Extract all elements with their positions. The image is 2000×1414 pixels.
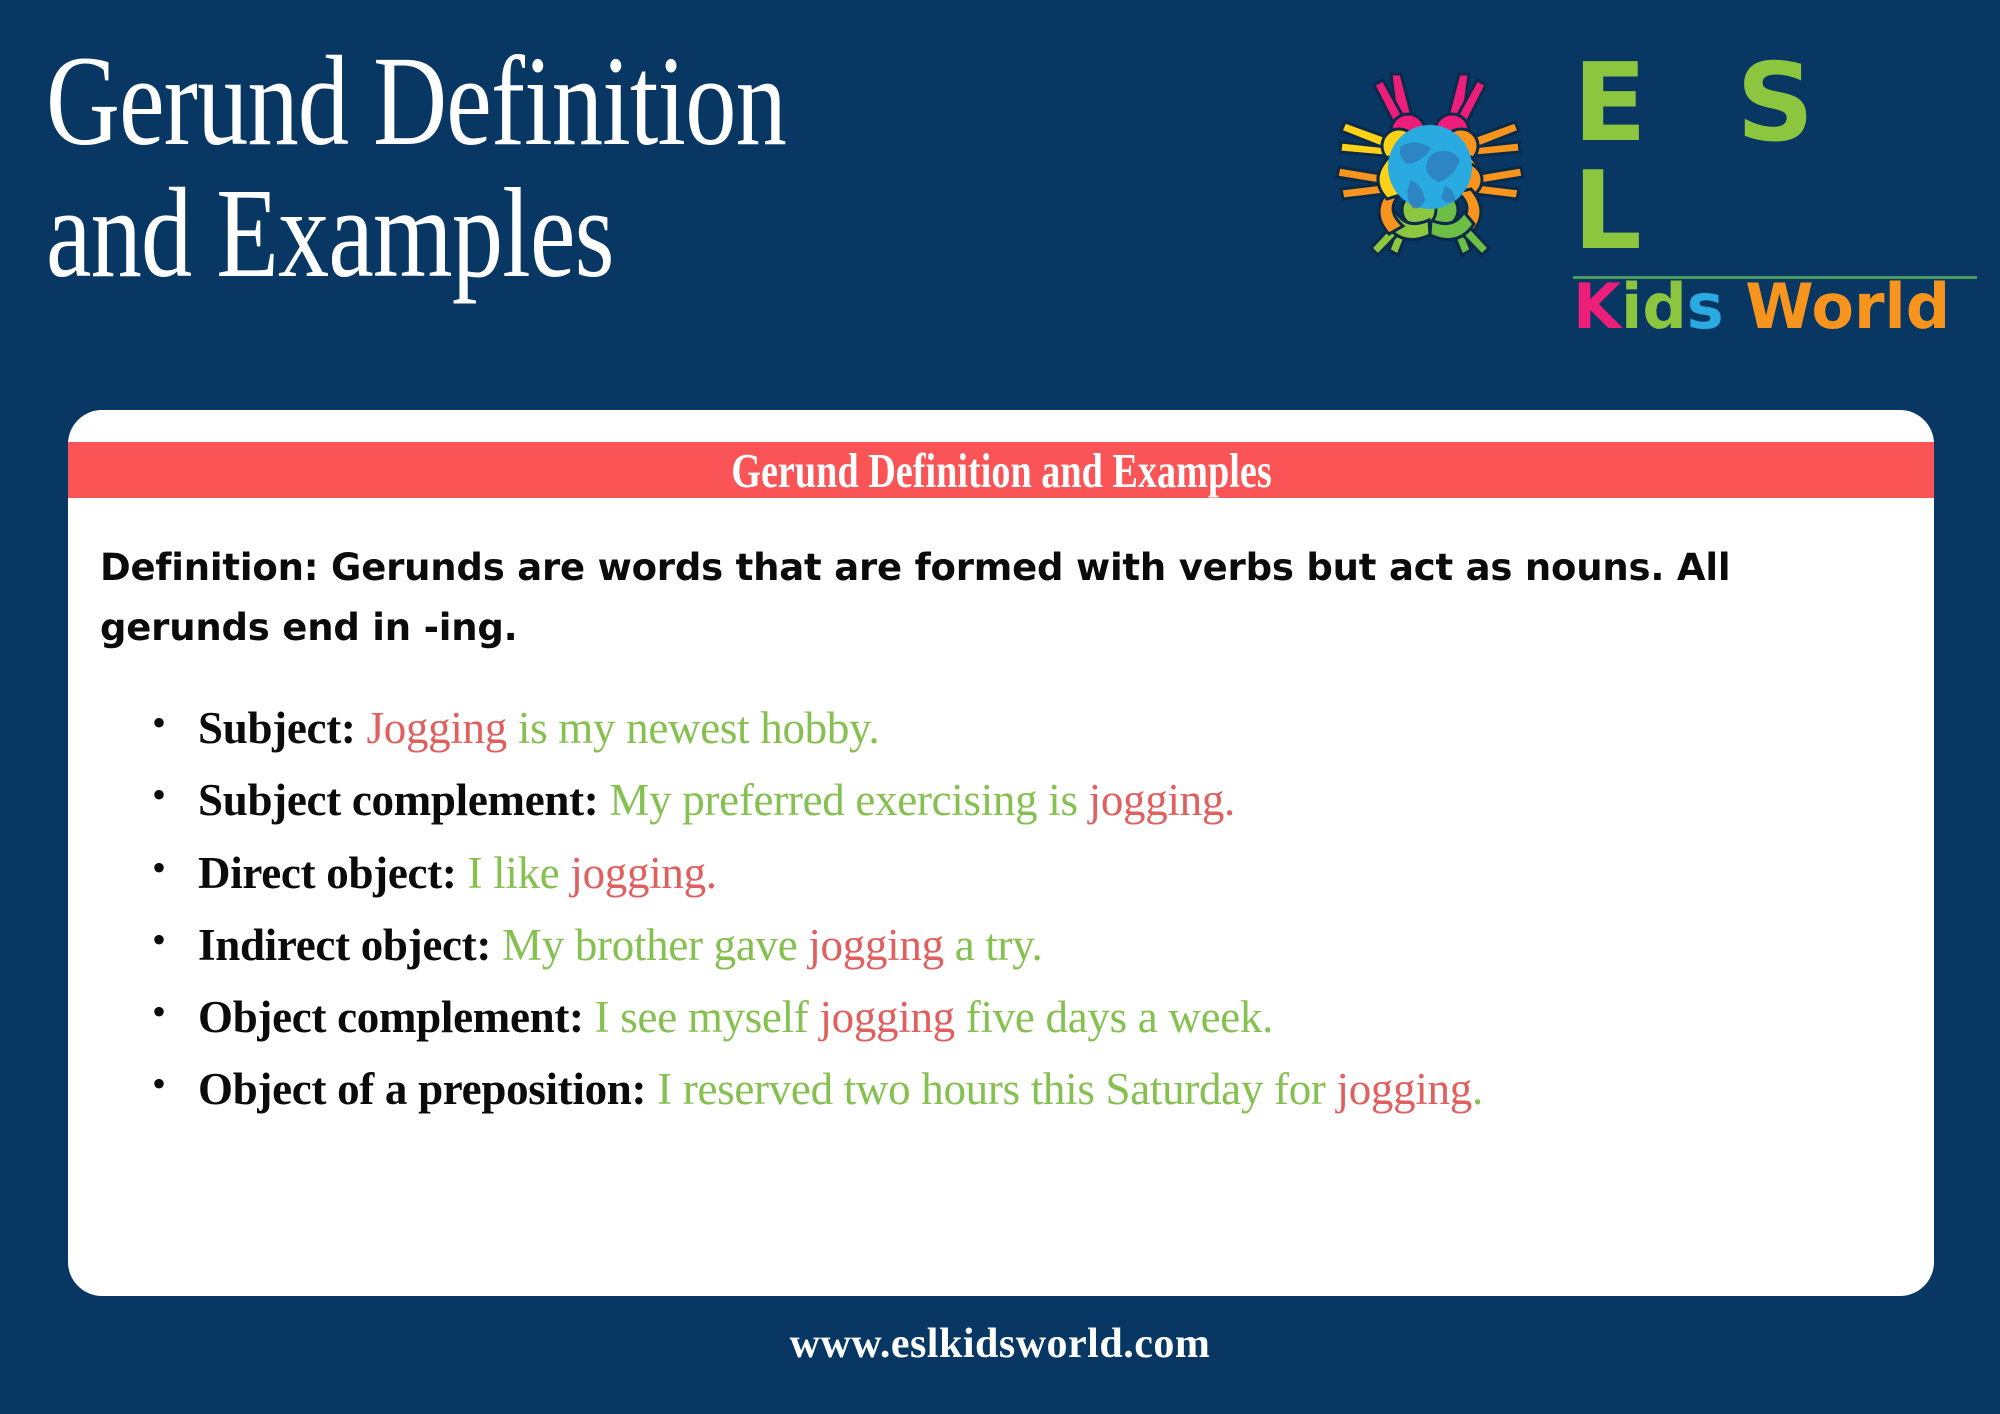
example-item: Subject: Jogging is my newest hobby. [198,698,1934,758]
logo-letter-d: d [1642,270,1686,343]
logo-letter-i: i [1621,270,1642,343]
brand-wordmark: E S L Kids World [1567,50,1977,275]
example-segment-red: jogging. [1089,775,1235,825]
example-item: Subject complement: My preferred exercis… [198,770,1934,830]
example-label: Indirect object: [198,920,491,970]
example-segment-green: . [1472,1064,1483,1114]
card-body: Definition: Gerunds are words that are f… [68,498,1934,1296]
content-card: Gerund Definition and Examples Definitio… [68,410,1934,1296]
example-segment-red: Jogging [367,703,507,753]
example-label: Direct object: [198,848,457,898]
example-item: Indirect object: My brother gave jogging… [198,915,1934,975]
example-segment-red: jogging [819,992,954,1042]
example-label: Object complement: [198,992,584,1042]
example-label: Object of a preposition: [198,1064,646,1114]
definition-text: Definition: Gerunds are words that are f… [100,538,1800,658]
example-segment-green: five days a week. [955,992,1273,1042]
logo-esl-text: E S L [1567,50,1977,266]
children-around-globe-icon [1305,34,1555,284]
footer-website-url: www.eslkidsworld.com [790,1321,1211,1367]
example-segment-green: is my newest hobby. [507,703,879,753]
brand-logo: E S L Kids World [1305,24,1985,304]
example-label: Subject: [198,703,356,753]
example-item: Object complement: I see myself jogging … [198,987,1934,1047]
example-segment-green: a try. [944,920,1043,970]
page-footer: www.eslkidsworld.com [0,1320,2000,1368]
card-banner: Gerund Definition and Examples [68,442,1934,498]
page-title: Gerund Definition and Examples [46,36,990,300]
page-header: Gerund Definition and Examples [0,0,2000,400]
example-item: Direct object: I like jogging. [198,843,1934,903]
logo-letter-k: K [1573,270,1621,343]
logo-kids-world-text: Kids World [1573,274,1977,339]
example-segment-green: I see myself [595,992,820,1042]
logo-word-world: World [1745,270,1950,343]
example-segment-green: I reserved two hours this Saturday for [657,1064,1336,1114]
card-banner-title: Gerund Definition and Examples [731,446,1271,495]
example-item: Object of a preposition: I reserved two … [198,1059,1934,1119]
logo-letter-space [1724,270,1746,343]
logo-letter-s: s [1687,270,1724,343]
example-segment-green: My preferred exercising is [609,775,1088,825]
example-segment-red: jogging [1337,1064,1472,1114]
example-segment-green: My brother gave [502,920,808,970]
example-segment-red: jogging. [570,848,716,898]
logo-underline [1573,276,1977,279]
example-segment-red: jogging [808,920,943,970]
example-label: Subject complement: [198,775,598,825]
example-segment-green: I like [468,848,571,898]
examples-list: Subject: Jogging is my newest hobby.Subj… [128,698,1934,1132]
